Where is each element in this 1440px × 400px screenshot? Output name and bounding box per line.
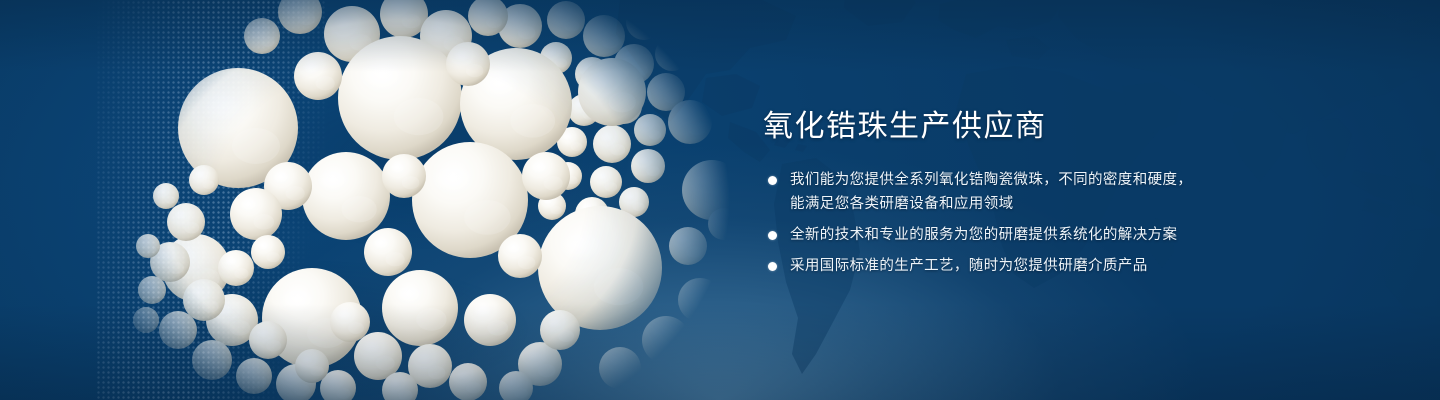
- bullet-text-line: 我们能为您提供全系列氧化锆陶瓷微珠，不同的密度和硬度，: [790, 168, 1363, 192]
- bullet-dot-icon: [768, 176, 777, 185]
- bullet-item-3: 采用国际标准的生产工艺，随时为您提供研磨介质产品: [763, 254, 1363, 278]
- bullet-text-line: 能满足您各类研磨设备和应用领域: [790, 192, 1363, 216]
- hero-banner: 氧化锆珠生产供应商 我们能为您提供全系列氧化锆陶瓷微珠，不同的密度和硬度， 能满…: [0, 0, 1440, 400]
- banner-bullet-list: 我们能为您提供全系列氧化锆陶瓷微珠，不同的密度和硬度， 能满足您各类研磨设备和应…: [763, 168, 1363, 278]
- bullet-item-2: 全新的技术和专业的服务为您的研磨提供系统化的解决方案: [763, 223, 1363, 247]
- banner-content: 氧化锆珠生产供应商 我们能为您提供全系列氧化锆陶瓷微珠，不同的密度和硬度， 能满…: [763, 108, 1363, 278]
- bullet-item-1: 我们能为您提供全系列氧化锆陶瓷微珠，不同的密度和硬度， 能满足您各类研磨设备和应…: [763, 168, 1363, 216]
- bullet-dot-icon: [768, 262, 777, 271]
- bullet-text-line: 全新的技术和专业的服务为您的研磨提供系统化的解决方案: [790, 223, 1363, 247]
- bullet-dot-icon: [768, 231, 777, 240]
- bullet-text-line: 采用国际标准的生产工艺，随时为您提供研磨介质产品: [790, 254, 1363, 278]
- banner-headline: 氧化锆珠生产供应商: [763, 108, 1363, 146]
